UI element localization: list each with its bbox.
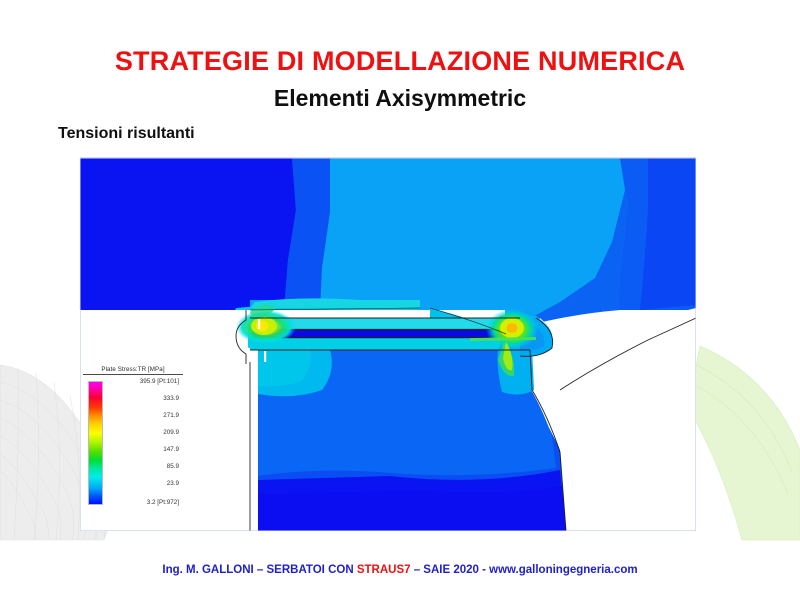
page-subtitle: Elementi Axisymmetric bbox=[0, 85, 800, 112]
footer-credit: Ing. M. GALLONI – SERBATOI CON STRAUS7 –… bbox=[0, 564, 800, 576]
legend-tick: 3.2 [Pt:972] bbox=[105, 499, 181, 506]
ghost-shell-right bbox=[688, 346, 800, 540]
stress-legend: Plate Stress:TR [MPa] 395.9 [Pt:101] 333… bbox=[83, 366, 183, 518]
legend-tick: 209.9 bbox=[105, 429, 181, 436]
footer-part-2: – SAIE 2020 - www.galloningegneria.com bbox=[411, 564, 638, 576]
footer-part-1: Ing. M. GALLONI – SERBATOI CON bbox=[162, 564, 356, 576]
page-title: STRATEGIE DI MODELLAZIONE NUMERICA bbox=[0, 46, 800, 77]
legend-tick: 333.9 bbox=[105, 395, 181, 402]
legend-tick: 85.9 bbox=[105, 463, 181, 470]
footer-highlight: STRAUS7 bbox=[357, 564, 411, 576]
legend-body: 395.9 [Pt:101] 333.9 271.9 209.9 147.9 8… bbox=[83, 378, 183, 518]
legend-tick: 147.9 bbox=[105, 446, 181, 453]
section-label: Tensioni risultanti bbox=[58, 125, 195, 143]
legend-tick: 395.9 [Pt:101] bbox=[105, 378, 181, 385]
legend-tick: 23.9 bbox=[105, 480, 181, 487]
legend-tick: 271.9 bbox=[105, 412, 181, 419]
legend-colorbar bbox=[88, 381, 103, 505]
legend-title: Plate Stress:TR [MPa] bbox=[83, 366, 183, 375]
